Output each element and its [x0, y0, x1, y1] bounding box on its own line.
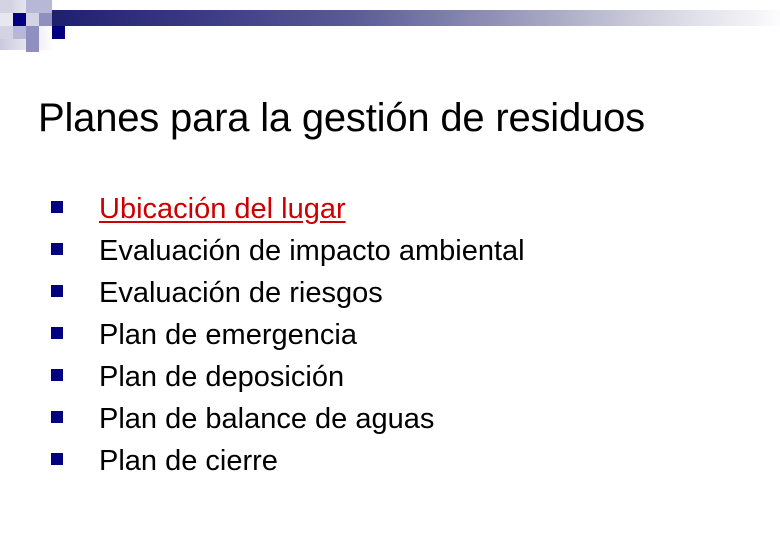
list-item-label: Plan de balance de aguas	[99, 403, 434, 435]
header-square-dark-2	[52, 26, 65, 39]
header-square-mid-1	[26, 26, 39, 39]
header-square-light-1	[13, 26, 26, 39]
list-item-label: Plan de deposición	[99, 361, 344, 393]
header-square-pale-2	[0, 26, 13, 39]
list-item: Evaluación de riesgos	[48, 272, 748, 314]
slide-header-decoration	[0, 0, 780, 58]
list-item-label: Evaluación de impacto ambiental	[99, 235, 525, 267]
header-square-mid-3	[39, 13, 52, 26]
header-gradient-bar	[52, 10, 780, 26]
bullet-list: Ubicación del lugar Evaluación de impact…	[48, 188, 748, 482]
bullet-square-icon	[51, 201, 63, 213]
list-item: Evaluación de impacto ambiental	[48, 230, 748, 272]
list-item[interactable]: Ubicación del lugar	[48, 188, 748, 230]
list-item-label: Evaluación de riesgos	[99, 277, 383, 309]
header-square-faint-1	[0, 13, 13, 26]
bullet-square-icon	[51, 369, 63, 381]
page-title: Planes para la gestión de residuos	[38, 95, 748, 141]
list-item: Plan de cierre	[48, 440, 748, 482]
list-item: Plan de deposición	[48, 356, 748, 398]
header-square-light-2	[26, 0, 39, 13]
header-square-light-3	[39, 0, 52, 13]
header-square-mid-2	[26, 39, 39, 52]
bullet-square-icon	[51, 411, 63, 423]
list-item-label: Plan de cierre	[99, 445, 278, 477]
header-square-pale-3	[26, 13, 39, 26]
list-item-label: Ubicación del lugar	[99, 193, 346, 225]
list-item-label: Plan de emergencia	[99, 319, 357, 351]
bullet-square-icon	[51, 285, 63, 297]
bullet-square-icon	[51, 327, 63, 339]
header-square-pale-1	[0, 0, 13, 13]
list-item: Plan de balance de aguas	[48, 398, 748, 440]
list-item: Plan de emergencia	[48, 314, 748, 356]
header-square-dark-1	[13, 13, 26, 26]
bullet-square-icon	[51, 243, 63, 255]
bullet-square-icon	[51, 453, 63, 465]
